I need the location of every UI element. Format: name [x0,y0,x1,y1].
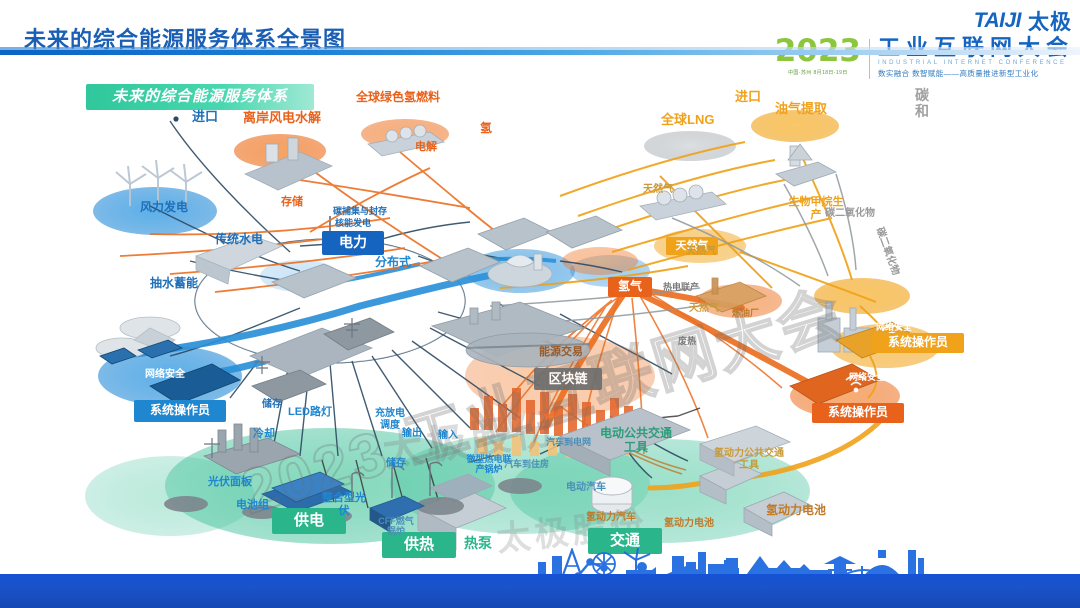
hub-system-operator-right-upper[interactable]: 系统操作员 [872,333,964,353]
taiji-logo: TAIJI 太极 [974,6,1072,36]
energy-system-diagram: 2023 工业互联网大会 太极股份 太极股份 未来的综合能源服务体系 电力 氢气… [0,56,1080,554]
diagram-banner: 未来的综合能源服务体系 [86,84,314,110]
hub-system-operator-right-lower[interactable]: 系统操作员 [812,403,904,423]
slide-root: 未来的综合能源服务体系全景图 TAIJI 太极 2023 中国·苏州 8月18日… [0,0,1080,608]
taiji-logo-en: TAIJI [974,9,1021,33]
hub-electricity[interactable]: 电力 [322,231,384,255]
icon-helicopter-rotor [466,333,590,367]
header-rule [0,50,1080,55]
hub-system-operator-left[interactable]: 系统操作员 [134,400,226,422]
footer-ferris-wheel-icon [593,553,615,575]
import-node-dot [173,116,178,121]
icon-wifi-badge-left [158,422,178,438]
hub-blockchain[interactable]: 区块链 [534,368,602,390]
footer-wave-band [0,574,1080,608]
hub-natural-gas[interactable]: 天然气 [666,237,718,255]
icon-heat-storage-tank [592,477,632,513]
hub-supply-power[interactable]: 供电 [272,508,346,534]
taiji-logo-cn: 太极 [1028,6,1072,36]
hub-hydrogen[interactable]: 氢气 [608,277,652,297]
diagram-artwork [0,56,1080,554]
slide-footer [0,552,1080,608]
slide-header: 未来的综合能源服务体系全景图 TAIJI 太极 2023 中国·苏州 8月18日… [0,0,1080,48]
